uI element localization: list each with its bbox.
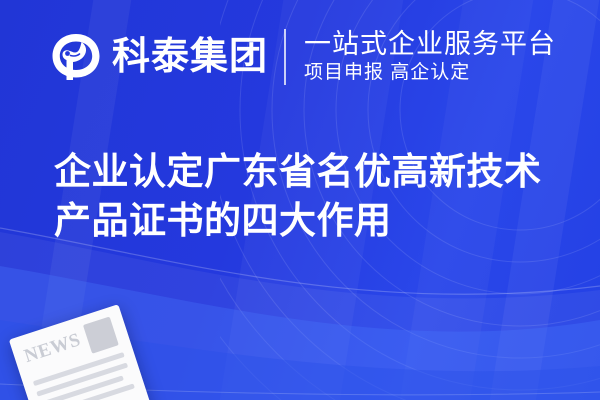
- page-title: 企业认定广东省名优高新技术产品证书的四大作用: [54, 148, 554, 246]
- ketai-circle-logo-icon: [50, 31, 102, 83]
- slogan-sub: 项目申报 高企认定: [304, 61, 556, 86]
- brand-name: 科泰集团: [112, 38, 268, 76]
- header-divider: [284, 29, 286, 85]
- slogan-main: 一站式企业服务平台: [304, 29, 556, 59]
- image-placeholder-icon: [83, 317, 119, 354]
- news-label: NEWS: [21, 327, 83, 366]
- banner-header: 科泰集团 一站式企业服务平台 项目申报 高企认定: [50, 22, 556, 92]
- promo-banner: 科泰集团 一站式企业服务平台 项目申报 高企认定 企业认定广东省名优高新技术产品…: [0, 0, 600, 400]
- slogan-block: 一站式企业服务平台 项目申报 高企认定: [304, 27, 556, 87]
